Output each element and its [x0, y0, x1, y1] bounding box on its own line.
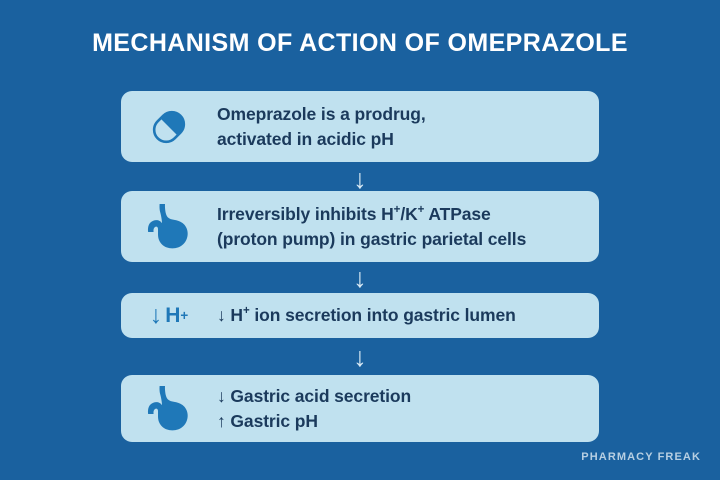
flow-step-2: Irreversibly inhibits H+/K+ ATPase (prot… [121, 191, 599, 262]
flow-step-1: Omeprazole is a prodrug, activated in ac… [121, 91, 599, 162]
connector-arrow-1: ↓ [0, 166, 720, 193]
flow-step-3-text: ↓ H+ ion secretion into gastric lumen [217, 303, 599, 327]
watermark-label: PHARMACY FREAK [581, 451, 701, 463]
flow-step-1-text: Omeprazole is a prodrug, activated in ac… [217, 102, 599, 150]
page-title: MECHANISM OF ACTION OF OMEPRAZOLE [0, 29, 720, 58]
capsule-pill-icon [121, 101, 217, 153]
hplus-label: H [165, 304, 180, 328]
infographic-canvas: MECHANISM OF ACTION OF OMEPRAZOLE Omepra… [0, 0, 720, 480]
flow-step-4-line-1: ↓ Gastric acid secretion [217, 384, 599, 408]
flow-step-4: ↓ Gastric acid secretion ↑ Gastric pH [121, 375, 599, 442]
flow-step-2-text: Irreversibly inhibits H+/K+ ATPase (prot… [217, 202, 599, 250]
stomach-icon [121, 383, 217, 435]
stomach-icon [121, 201, 217, 253]
flow-step-3-line-1: ↓ H+ ion secretion into gastric lumen [217, 303, 599, 327]
flow-step-4-text: ↓ Gastric acid secretion ↑ Gastric pH [217, 384, 599, 432]
down-arrow-hplus-icon: ↓H+ [121, 303, 217, 328]
down-arrow-glyph: ↓ [150, 303, 163, 328]
connector-arrow-2: ↓ [0, 265, 720, 292]
flow-step-1-line-2: activated in acidic pH [217, 127, 599, 151]
flow-step-2-line-2: (proton pump) in gastric parietal cells [217, 227, 599, 251]
flow-step-3: ↓H+ ↓ H+ ion secretion into gastric lume… [121, 293, 599, 338]
flow-step-2-line-1: Irreversibly inhibits H+/K+ ATPase [217, 202, 599, 226]
connector-arrow-3: ↓ [0, 344, 720, 371]
flow-step-1-line-1: Omeprazole is a prodrug, [217, 102, 599, 126]
flow-step-4-line-2: ↑ Gastric pH [217, 409, 599, 433]
